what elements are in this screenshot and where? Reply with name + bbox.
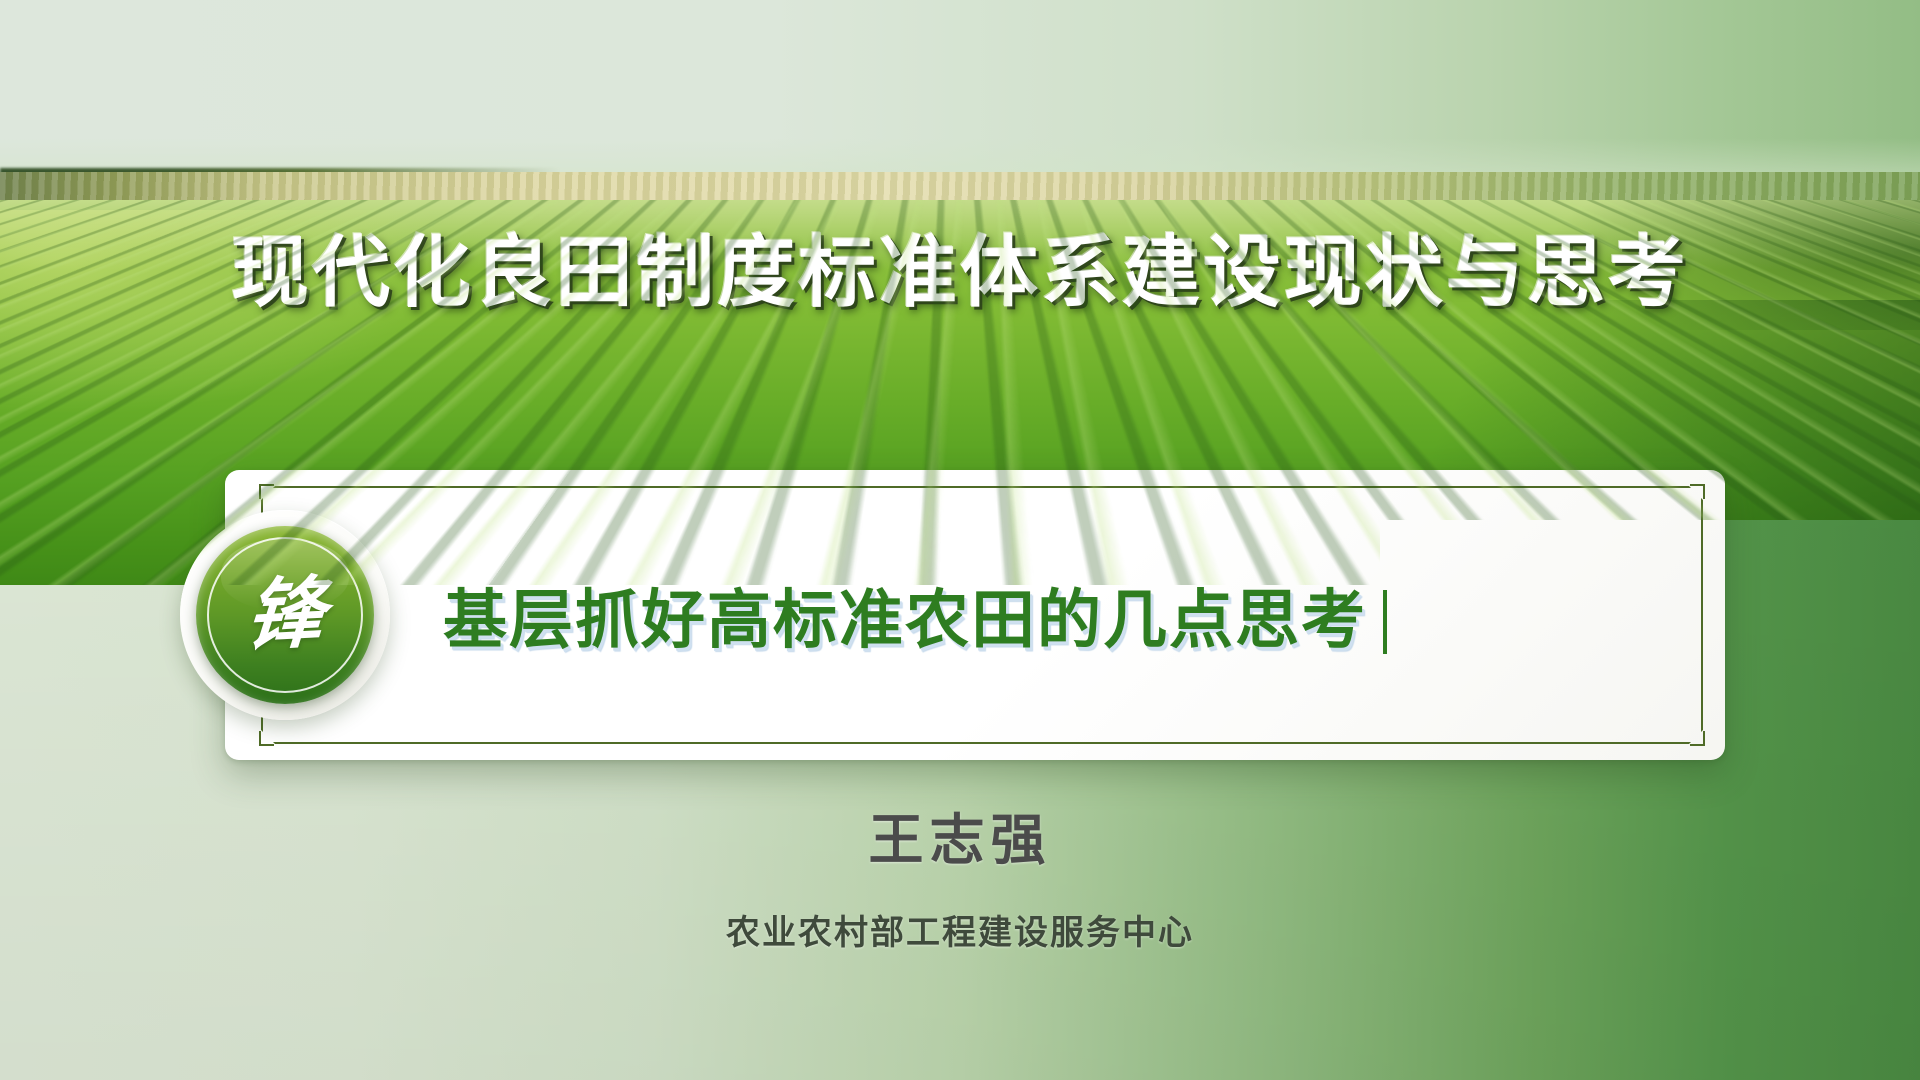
badge-circle: 锋: [196, 526, 374, 704]
subtitle-text: 基层抓好高标准农田的几点思考: [443, 584, 1367, 658]
presentation-slide: 现代化良田制度标准体系建设现状与思考 锋 基层抓好高标准农田的几点思考 王志强 …: [0, 0, 1920, 1080]
sky-region: [0, 0, 1920, 178]
presenter-name: 王志强: [0, 795, 1920, 875]
section-badge: 锋: [180, 510, 390, 720]
text-cursor-caret: [1383, 590, 1387, 654]
subtitle-card: 锋 基层抓好高标准农田的几点思考: [225, 470, 1725, 760]
subtitle-text-block: 基层抓好高标准农田的几点思考: [443, 569, 1387, 661]
page-title: 现代化良田制度标准体系建设现状与思考: [0, 210, 1920, 322]
badge-calligraphy-character: 锋: [243, 574, 327, 656]
presenter-affiliation: 农业农村部工程建设服务中心: [0, 905, 1920, 954]
